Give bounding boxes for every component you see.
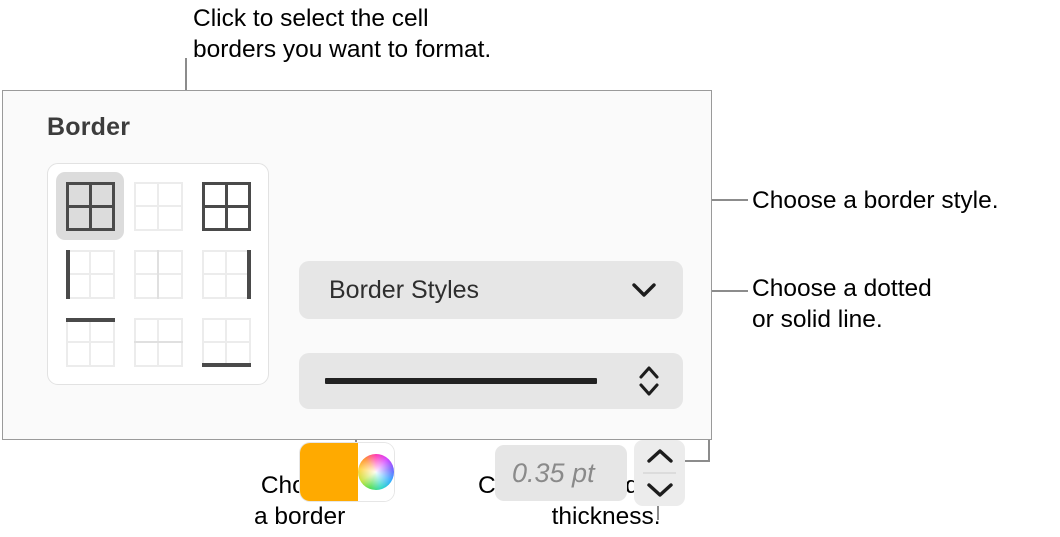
border-thickness-field[interactable]: 0.35 pt	[495, 445, 627, 501]
callout-choose-border-style: Choose a border style.	[752, 185, 999, 216]
border-option-outline-borders[interactable]	[192, 172, 260, 240]
border-inspector-panel: Border	[2, 90, 712, 440]
border-styles-label: Border Styles	[329, 261, 479, 319]
chevron-up-icon[interactable]	[634, 440, 685, 473]
chevron-down-icon[interactable]	[634, 473, 685, 506]
border-option-right-border[interactable]	[192, 240, 260, 308]
border-glyph-bottom-border	[202, 318, 251, 367]
screenshot-stage: Click to select the cell borders you wan…	[0, 0, 1060, 537]
border-option-inner-vertical[interactable]	[124, 240, 192, 308]
border-option-bottom-border[interactable]	[192, 308, 260, 376]
border-option-all-borders[interactable]	[56, 172, 124, 240]
color-wheel-button[interactable]	[358, 443, 394, 501]
callout-choose-line-type: Choose a dotted or solid line.	[752, 273, 932, 335]
border-glyph-right-border	[202, 250, 251, 299]
border-option-inner-horizontal[interactable]	[124, 308, 192, 376]
stepper-up-down-icon	[637, 353, 661, 409]
border-glyph-left-border	[66, 250, 115, 299]
border-thickness-value: 0.35 pt	[512, 445, 595, 501]
callout-select-cell-borders: Click to select the cell borders you wan…	[193, 3, 491, 65]
color-wheel-icon	[358, 454, 394, 490]
border-option-no-border[interactable]	[124, 172, 192, 240]
border-glyph-all-borders	[66, 182, 115, 231]
cell-border-picker[interactable]	[47, 163, 269, 385]
line-style-popup-button[interactable]	[299, 353, 683, 409]
solid-line-sample	[325, 378, 597, 384]
border-glyph-top-border	[66, 318, 115, 367]
chevron-down-icon	[631, 261, 657, 319]
border-glyph-inner-vertical	[134, 250, 183, 299]
border-thickness-stepper[interactable]	[634, 440, 685, 506]
panel-title: Border	[47, 113, 130, 142]
border-option-left-border[interactable]	[56, 240, 124, 308]
border-glyph-no-border	[134, 182, 183, 231]
border-glyph-outline-borders	[202, 182, 251, 231]
border-option-top-border[interactable]	[56, 308, 124, 376]
border-styles-popup-button[interactable]: Border Styles	[299, 261, 683, 319]
border-color-well[interactable]	[300, 443, 394, 501]
border-color-swatch[interactable]	[300, 443, 358, 501]
border-glyph-inner-horizontal	[134, 318, 183, 367]
